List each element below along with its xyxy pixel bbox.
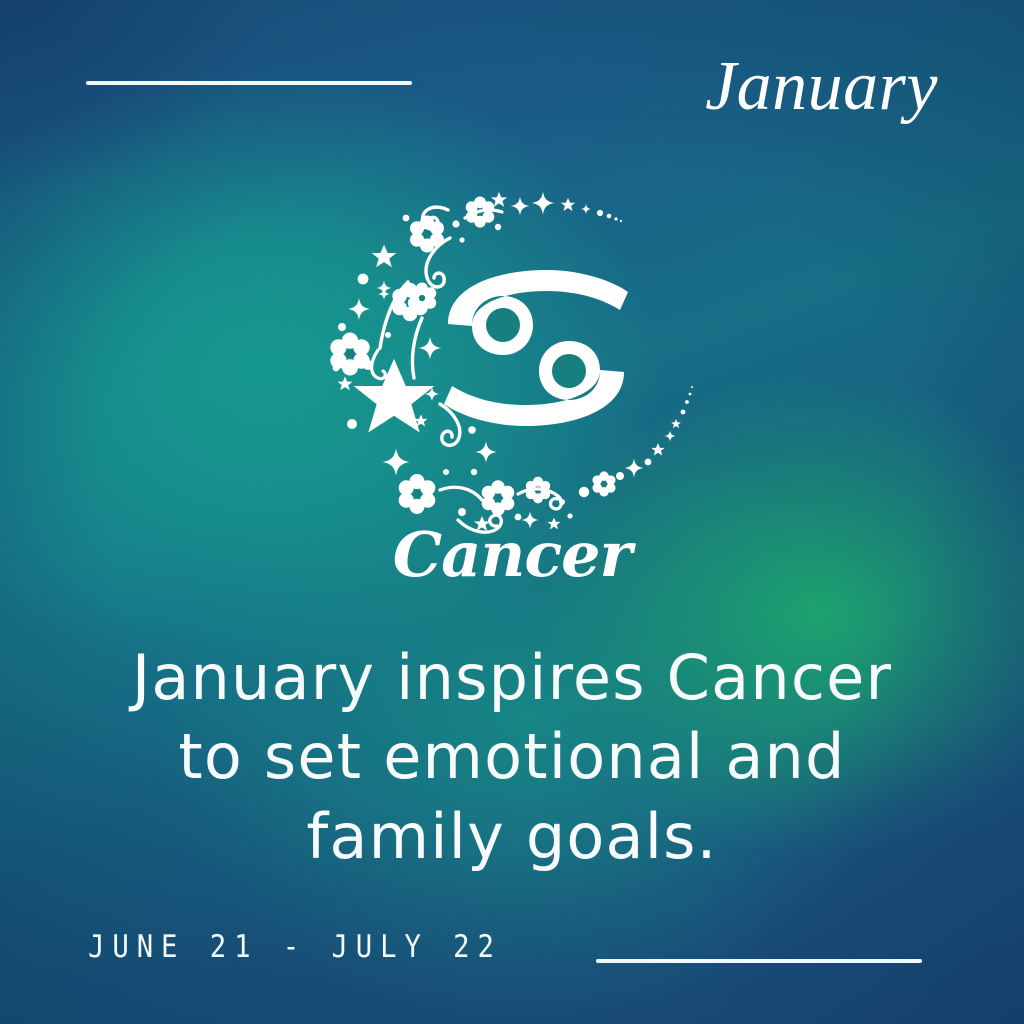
date-range-label: JUNE 21 - JULY 22 (88, 932, 502, 963)
bottom-divider-line (596, 959, 922, 963)
zodiac-sign-name: Cancer (0, 524, 1024, 586)
crescent-left-arc (330, 245, 427, 391)
crescent-upper-arc (403, 196, 502, 287)
message-line-3: family goals. (70, 797, 954, 876)
crescent-upper-tail (491, 192, 622, 223)
message-line-1: January inspires Cancer (70, 638, 954, 717)
message-text: January inspires Cancer to set emotional… (70, 638, 954, 876)
message-line-2: to set emotional and (70, 717, 954, 796)
top-divider-line (86, 81, 412, 85)
month-title: January (705, 52, 938, 122)
zodiac-poster: January (0, 0, 1024, 1024)
cancer-symbol-glyph (444, 270, 628, 426)
floral-crescent-moon-emblem (322, 172, 702, 552)
